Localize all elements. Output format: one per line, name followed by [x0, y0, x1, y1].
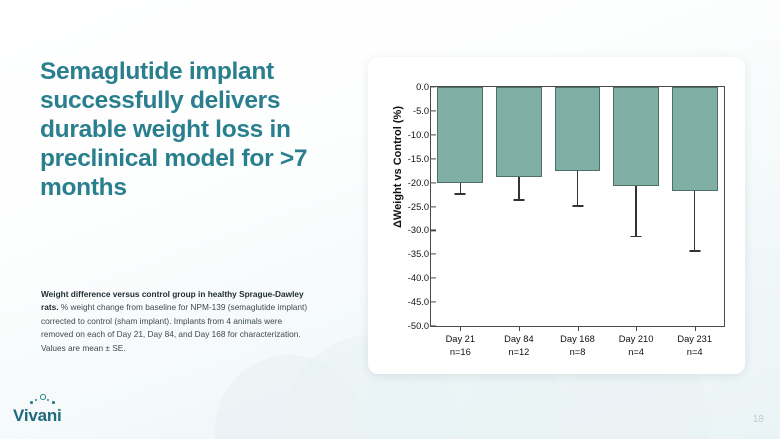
error-bar-line [518, 177, 519, 199]
error-bar-cap [689, 250, 700, 252]
x-axis-tick-mark [636, 326, 637, 331]
bar-day-168 [555, 87, 601, 171]
page-title: Semaglutide implant successfully deliver… [40, 58, 340, 203]
x-axis-tick-label: Day 210n=4 [619, 333, 654, 358]
y-axis-tick-mark [431, 302, 436, 303]
bar-day-210 [613, 87, 659, 186]
y-axis-tick-label: -45.0 [399, 297, 429, 307]
bar-day-21 [437, 87, 483, 183]
plot-area: 0.0-5.0-10.0-15.0-20.0-25.0-30.0-35.0-40… [430, 86, 725, 327]
decorative-circle [215, 355, 365, 439]
y-axis-tick-label: -25.0 [399, 202, 429, 212]
bar-day-84 [496, 87, 542, 177]
headline-block: Semaglutide implant successfully deliver… [40, 58, 340, 203]
y-axis-tick-mark [431, 134, 436, 135]
figure-caption: Weight difference versus control group i… [41, 288, 313, 355]
chart: ΔWeight vs Control (%) 0.0-5.0-10.0-15.0… [368, 57, 745, 374]
y-axis-tick-label: -35.0 [399, 249, 429, 259]
y-axis-tick-label: 0.0 [399, 82, 429, 92]
y-axis-label: ΔWeight vs Control (%) [392, 67, 404, 267]
y-axis-tick-mark [431, 182, 436, 183]
y-axis-tick-mark [431, 278, 436, 279]
y-axis-tick-label: -50.0 [399, 321, 429, 331]
y-axis-tick-label: -10.0 [399, 130, 429, 140]
x-axis-tick-label: Day 231n=4 [677, 333, 712, 358]
y-axis-tick-label: -20.0 [399, 178, 429, 188]
y-axis-tick-label: -40.0 [399, 273, 429, 283]
error-bar-cap [572, 205, 583, 207]
y-axis-tick-mark [431, 206, 436, 207]
error-bar-line [694, 191, 695, 250]
y-axis-tick-mark [431, 110, 436, 111]
caption-body: % weight change from baseline for NPM-13… [41, 302, 307, 352]
x-axis-tick-mark [460, 326, 461, 331]
y-axis-tick-label: -5.0 [399, 106, 429, 116]
x-axis-tick-mark [519, 326, 520, 331]
x-axis-tick-label: Day 84n=12 [504, 333, 533, 358]
y-axis-tick-mark [431, 254, 436, 255]
logo-dot-icon [30, 401, 33, 404]
x-axis-label-day: Day 84 [504, 333, 533, 346]
error-bar-line [635, 186, 636, 236]
x-axis-label-day: Day 168 [560, 333, 595, 346]
y-axis-tick-label: -30.0 [399, 225, 429, 235]
logo-wordmark: Vivani [13, 406, 62, 426]
x-axis-label-n: n=4 [677, 346, 712, 359]
bar-day-231 [672, 87, 718, 191]
y-axis-tick-mark [431, 230, 436, 231]
logo-dot-icon [35, 399, 37, 401]
x-axis-tick-mark [695, 326, 696, 331]
x-axis-label-n: n=12 [504, 346, 533, 359]
y-axis-tick-mark [431, 158, 436, 159]
slide: Semaglutide implant successfully deliver… [0, 0, 780, 439]
x-axis-tick-label: Day 168n=8 [560, 333, 595, 358]
chart-card: ΔWeight vs Control (%) 0.0-5.0-10.0-15.0… [368, 57, 745, 374]
x-axis-tick-label: Day 21n=16 [446, 333, 475, 358]
y-axis-tick-label: -15.0 [399, 154, 429, 164]
x-axis-label-day: Day 231 [677, 333, 712, 346]
y-axis-tick-mark [431, 86, 436, 87]
vivani-logo: Vivani [13, 396, 83, 426]
x-axis-label-day: Day 210 [619, 333, 654, 346]
error-bar-line [577, 171, 578, 205]
logo-ring-icon [40, 394, 46, 400]
logo-dot-icon [47, 399, 49, 401]
x-axis-label-n: n=16 [446, 346, 475, 359]
logo-dot-icon [52, 401, 55, 404]
page-number: 18 [753, 414, 764, 425]
y-axis-tick-mark [431, 325, 436, 326]
error-bar-cap [513, 199, 524, 201]
error-bar-cap [631, 236, 642, 238]
x-axis-label-day: Day 21 [446, 333, 475, 346]
error-bar-cap [455, 193, 466, 195]
x-axis-tick-mark [578, 326, 579, 331]
x-axis-label-n: n=4 [619, 346, 654, 359]
x-axis-label-n: n=8 [560, 346, 595, 359]
error-bar-line [460, 183, 461, 193]
